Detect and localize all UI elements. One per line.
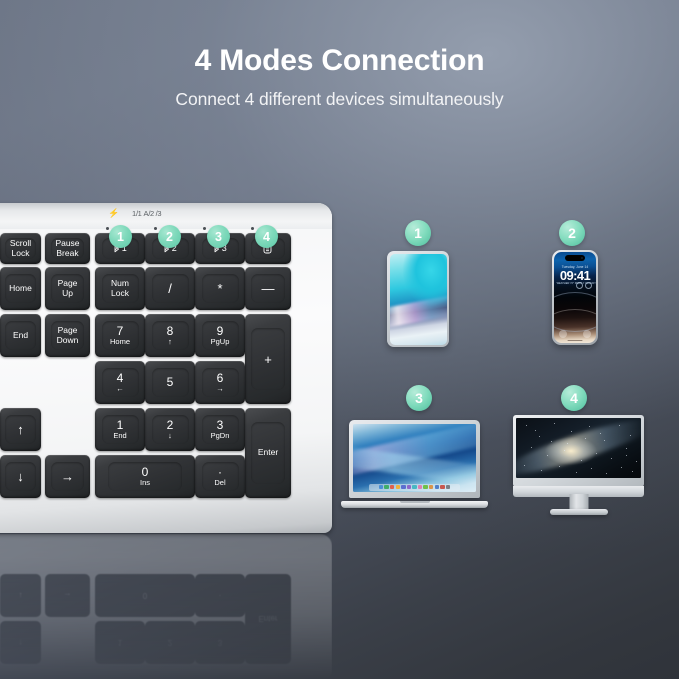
reflected-key-arrow-up: ↑ [0,621,41,664]
star [571,431,572,432]
star [611,458,612,459]
device-badge-1: 1 [405,220,431,246]
key-num-7[interactable]: 7Home [95,314,145,357]
key-label: / [168,282,172,295]
star [585,438,586,439]
key-primary-label: 1 [117,419,124,432]
key-secondary-label: → [216,385,224,393]
tablet-screen [390,254,447,345]
key-secondary-label: ↓ [168,432,172,440]
dynamic-island [565,255,585,261]
key-label: Break [56,249,78,259]
star [600,433,601,434]
key-label: Up [62,289,73,299]
key-num-5[interactable]: 5 [145,361,195,404]
key-label: Lock [12,249,30,259]
key-secondary-label: End [113,432,126,440]
star [632,471,633,472]
key-num-3[interactable]: 3PgDn [195,408,245,451]
key-label: * [217,282,222,295]
dock-icon[interactable] [412,485,416,489]
key-minus[interactable]: — [245,267,291,310]
star [596,453,597,454]
reflected-key-num-1: 1 [95,621,145,664]
lockscreen-time: 09:41 [554,269,597,282]
device-phone: Tuesday, June 14 09:41 WEATHER 72° PARTL… [552,250,598,345]
key-label: Down [57,336,79,346]
dock-icon[interactable] [429,485,433,489]
keyboard-mode-badge-4: 4 [255,225,278,248]
key-plus[interactable]: + [245,314,291,404]
device-tablet [387,251,449,347]
device-badge-2: 2 [559,220,585,246]
keyboard-status-indicators: ⚡ 1/␱1 A/␱2 ⊥/␱3 [108,208,161,219]
key-label: ↑ [17,423,24,436]
key-label: + [264,353,272,366]
key-primary-label: 9 [217,325,224,338]
page-subtitle: Connect 4 different devices simultaneous… [0,89,679,110]
monitor-bezel [513,415,644,487]
key-primary-label: 4 [117,372,124,385]
star [564,450,565,451]
wireless-keyboard: ⚡ 1/␱1 A/␱2 ⊥/␱3 ScrollLockPauseBreak123… [0,203,332,533]
dock-icon[interactable] [407,485,411,489]
keyboard-reflection: ↑123Enter↓→0· [0,534,332,679]
key-enter[interactable]: Enter [245,408,291,498]
key-secondary-label: ↑ [168,338,172,346]
key-num-0[interactable]: 0Ins [95,455,195,498]
dock-icon[interactable] [401,485,405,489]
key-primary-label: 5 [167,376,174,389]
star [539,436,540,437]
header-block: 4 Modes Connection Connect 4 different d… [0,44,679,110]
star [636,461,637,462]
laptop-base [341,501,488,508]
keyboard-mode-badge-1: 1 [109,225,132,248]
star [619,425,620,426]
key-num-8[interactable]: 8↑ [145,314,195,357]
key-primary-label: 8 [167,325,174,338]
dock-icon[interactable] [440,485,444,489]
monitor-stand-foot [550,509,608,515]
star [630,435,631,436]
star [604,440,605,441]
star [559,466,560,467]
dock-icon[interactable] [390,485,394,489]
laptop-lid [349,420,480,498]
laptop-screen [353,424,476,492]
reflected-key-num-dot: · [195,574,245,617]
key-secondary-label: Ins [140,479,150,487]
key-label: Enter [258,448,278,458]
key-page-up[interactable]: PageUp [45,267,90,310]
keyboard-mode-badge-3: 3 [207,225,230,248]
dock-icon[interactable] [396,485,400,489]
monitor-stand-neck [569,494,588,510]
key-pause-break[interactable]: PauseBreak [45,233,90,264]
key-secondary-label: ← [116,385,124,393]
device-laptop [341,420,488,508]
key-secondary-label: PgDn [211,432,230,440]
dock-icon[interactable] [435,485,439,489]
device-badge-3: 3 [406,385,432,411]
monitor-screen [516,418,641,478]
key-arrow-up[interactable]: ↑ [0,408,41,451]
star [535,430,536,431]
led-dot-2 [154,227,157,230]
dock-icon[interactable] [418,485,422,489]
star [554,423,555,424]
reflected-key-num-3: 3 [195,621,245,664]
key-primary-label: 0 [142,466,149,479]
key-primary-label: · [218,466,222,479]
reflected-key-num-0: 0 [95,574,195,617]
keyboard-reflection-body [0,534,332,679]
star [551,441,552,442]
key-num-2[interactable]: 2↓ [145,408,195,451]
laptop-dock [369,484,460,491]
galaxy-stars [516,418,641,478]
key-primary-label: 3 [217,419,224,432]
dock-icon[interactable] [423,485,427,489]
key-multiply[interactable]: * [195,267,245,310]
key-num-dot[interactable]: ·Del [195,455,245,498]
key-label: Home [9,284,32,294]
key-primary-label: 7 [117,325,124,338]
key-page-down[interactable]: PageDown [45,314,90,357]
key-primary-label: 6 [217,372,224,385]
reflected-key-arrow-down: ↓ [0,574,41,617]
reflected-key-arrow-right: → [45,574,90,617]
reflected-key-num-2: 2 [145,621,195,664]
device-badge-4: 4 [561,385,587,411]
key-num-1[interactable]: 1End [95,408,145,451]
star [567,443,568,444]
key-num-9[interactable]: 9PgUp [195,314,245,357]
lockscreen-widget-circles [576,282,593,289]
star [576,472,577,473]
led-dot-1 [106,227,109,230]
key-label: ↓ [17,470,24,483]
key-home[interactable]: Home [0,267,41,310]
key-num-6[interactable]: 6→ [195,361,245,404]
key-num-4[interactable]: 4← [95,361,145,404]
key-label: Lock [111,289,129,299]
lockscreen-shortcuts [554,330,597,338]
star [547,455,548,456]
star [531,447,532,448]
led-dot-3 [203,227,206,230]
key-end[interactable]: End [0,314,41,357]
keyboard-mode-badge-2: 2 [158,225,181,248]
dock-icon[interactable] [379,485,383,489]
dock-icon[interactable] [384,485,388,489]
star [626,455,627,456]
key-secondary-label: PgUp [211,338,230,346]
key-arrow-right[interactable]: → [45,455,90,498]
key-arrow-down[interactable]: ↓ [0,455,41,498]
star [591,468,592,469]
key-num-lock[interactable]: NumLock [95,267,145,310]
reflected-key-enter: Enter [245,574,291,664]
key-label: — [262,282,275,295]
key-label: End [13,331,28,341]
star [626,448,627,449]
lightning-bolt-icon: ⚡ [108,208,119,219]
star [606,473,607,474]
key-divide[interactable]: / [145,267,195,310]
key-secondary-label: Del [214,479,225,487]
led-dot-4 [251,227,254,230]
indicator-label-text: 1/␱1 A/␱2 ⊥/␱3 [132,209,161,218]
star [524,465,525,466]
page-title: 4 Modes Connection [0,44,679,77]
device-monitor [513,415,644,515]
key-label: → [61,470,74,483]
dock-icon[interactable] [446,485,450,489]
phone-screen: Tuesday, June 14 09:41 WEATHER 72° PARTL… [554,252,597,344]
star [581,460,582,461]
star [541,470,542,471]
promo-graphic: 4 Modes Connection Connect 4 different d… [0,0,679,679]
key-scroll-lock[interactable]: ScrollLock [0,233,41,264]
key-primary-label: 2 [167,419,174,432]
star [526,425,527,426]
star [621,467,622,468]
key-secondary-label: Home [110,338,130,346]
star [589,426,590,427]
